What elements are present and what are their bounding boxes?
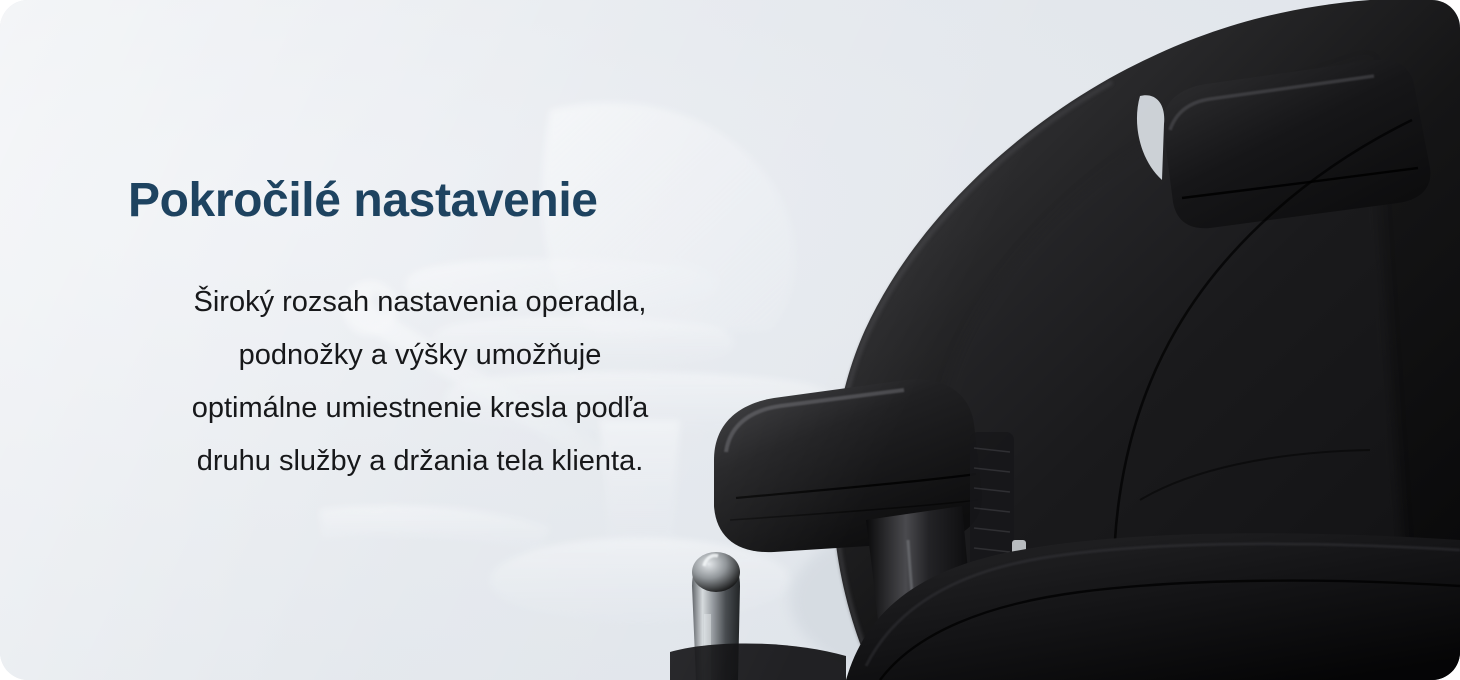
- description-line-3: optimálne umiestnenie kresla podľa: [128, 382, 712, 435]
- advanced-adjustment-feature-card: Pokročilé nastavenie Široký rozsah nasta…: [0, 0, 1460, 680]
- page-title: Pokročilé nastavenie: [128, 172, 712, 230]
- feature-description: Široký rozsah nastavenia operadla, podno…: [128, 230, 712, 488]
- feature-text-block: Pokročilé nastavenie Široký rozsah nasta…: [128, 172, 712, 488]
- description-line-4: druhu služby a držania tela klienta.: [128, 435, 712, 488]
- description-line-1: Široký rozsah nastavenia operadla,: [128, 276, 712, 329]
- description-line-2: podnožky a výšky umožňuje: [128, 329, 712, 382]
